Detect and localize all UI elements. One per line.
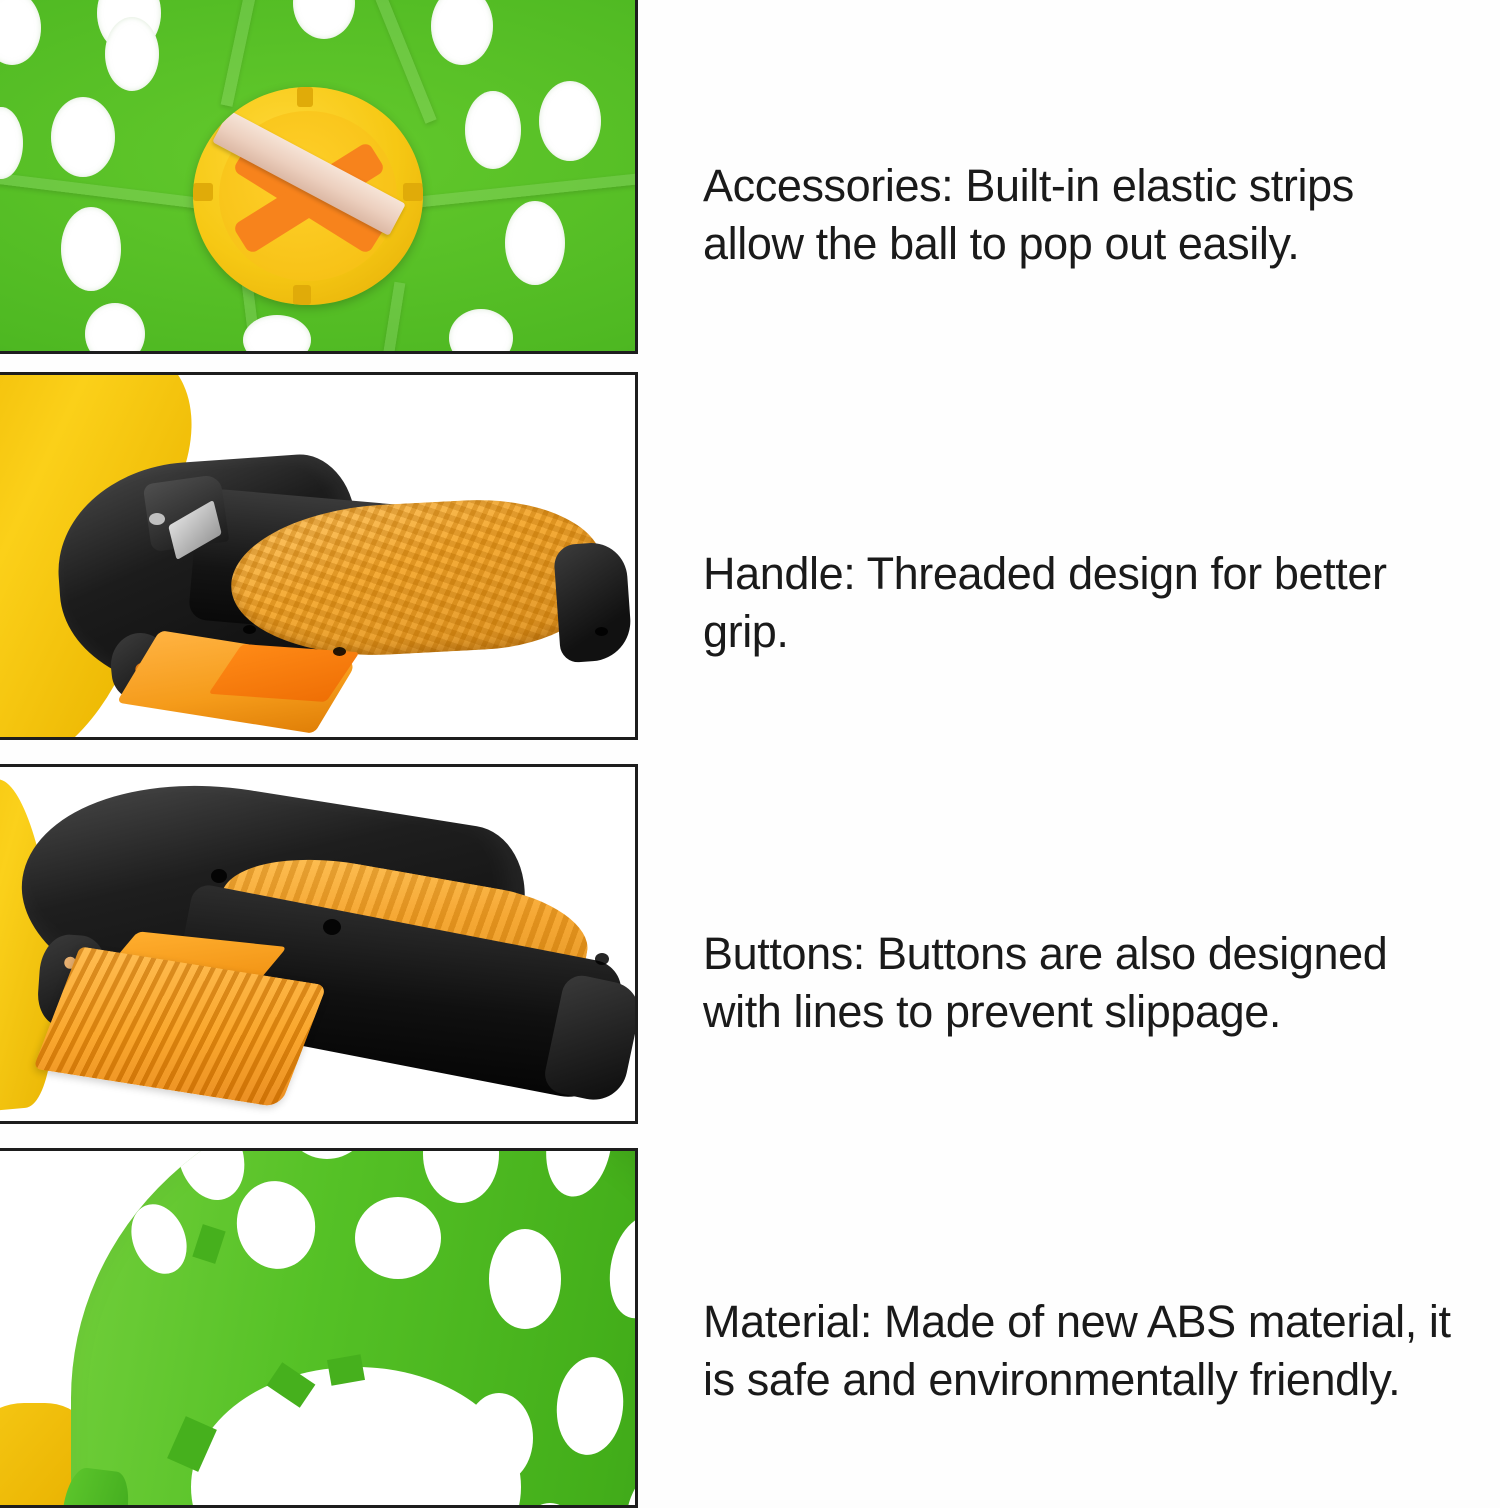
hub-notch: [403, 183, 423, 201]
dome-hole: [552, 1354, 628, 1458]
feature-text-material: Material: Made of new ABS material, it i…: [703, 1293, 1463, 1409]
basket-hole: [105, 17, 159, 91]
hub-notch: [193, 183, 213, 201]
elastic-hub: [193, 87, 423, 305]
basket-hole: [465, 91, 521, 169]
basket-hole: [539, 81, 601, 161]
hub-notch: [297, 87, 313, 107]
basket-hole: [505, 201, 565, 285]
handle-screw: [149, 513, 165, 525]
handle-screw: [595, 953, 609, 965]
dome-hole: [121, 1196, 196, 1282]
green-abs-dome: [71, 1151, 635, 1505]
basket-hole: [61, 207, 121, 291]
dome-hole: [517, 1503, 583, 1505]
handle-screw: [595, 627, 608, 636]
dome-opening: [191, 1367, 521, 1505]
handle-screw: [323, 919, 341, 935]
handle-screw: [243, 625, 256, 634]
infographic-sheet: Accessories: Built-in elastic strips all…: [0, 0, 1500, 1500]
feature-panel-accessories: [0, 0, 638, 354]
dome-hole: [355, 1197, 441, 1279]
material-photo: [0, 1151, 635, 1505]
dome-edge-tooth: [192, 1224, 225, 1264]
accessories-photo: [0, 0, 635, 351]
handle-screw: [211, 869, 227, 883]
feature-text-handle: Handle: Threaded design for better grip.: [703, 545, 1463, 661]
feature-panel-handle: [0, 372, 638, 740]
dome-hole: [423, 1151, 499, 1203]
buttons-photo: [0, 767, 635, 1121]
handle-end-cap: [553, 541, 633, 664]
feature-text-accessories: Accessories: Built-in elastic strips all…: [703, 157, 1463, 273]
feature-text-buttons: Buttons: Buttons are also designed with …: [703, 925, 1463, 1041]
dome-hole: [538, 1151, 619, 1202]
dome-hole: [287, 1151, 367, 1159]
feature-panel-material: [0, 1148, 638, 1508]
basket-hole: [51, 97, 115, 177]
handle-screw: [333, 647, 346, 656]
dome-hole: [489, 1229, 561, 1329]
dome-hole: [230, 1175, 322, 1275]
dome-hole: [601, 1210, 635, 1325]
hub-notch: [293, 285, 311, 305]
handle-photo: [0, 375, 635, 737]
dome-hole: [619, 1464, 635, 1505]
feature-panel-buttons: [0, 764, 638, 1124]
